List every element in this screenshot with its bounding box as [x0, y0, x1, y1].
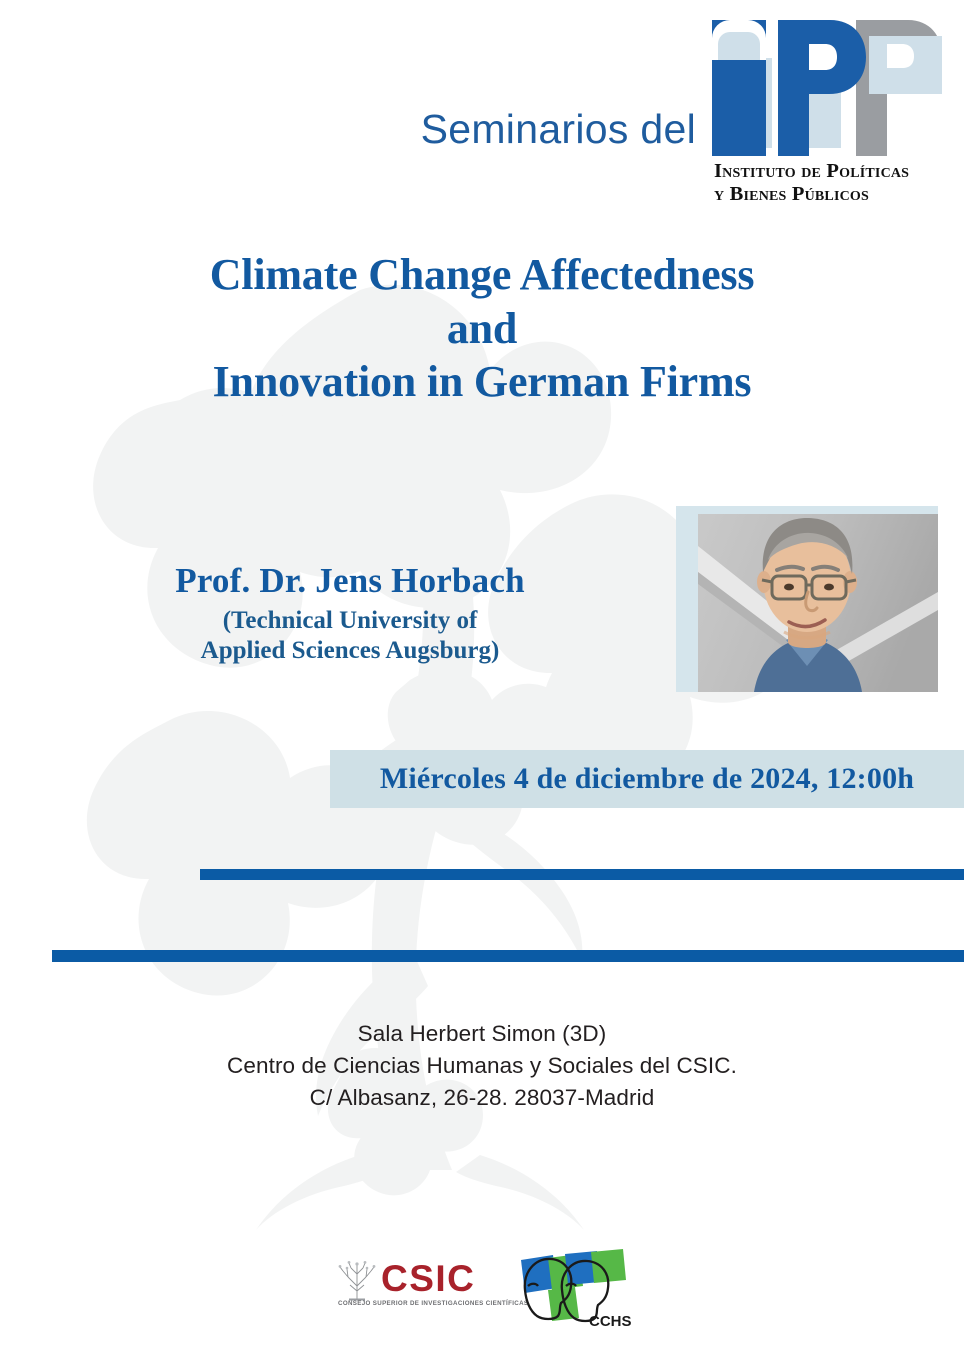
ipp-logo-mark [706, 18, 944, 158]
divider-rule-bottom [52, 950, 964, 962]
csic-tagline: CONSEJO SUPERIOR DE INVESTIGACIONES CIEN… [338, 1300, 528, 1307]
event-datetime: Miércoles 4 de diciembre de 2024, 12:00h [380, 762, 914, 796]
csic-wordmark: CSIC [381, 1260, 475, 1297]
poster-header: Seminarios del [0, 0, 964, 215]
title-line-2: and [0, 302, 964, 356]
cchs-label: CCHS [589, 1313, 632, 1330]
venue-line-3: C/ Albasanz, 26-28. 28037-Madrid [0, 1082, 964, 1114]
venue-line-1: Sala Herbert Simon (3D) [0, 1018, 964, 1050]
title-line-1: Climate Change Affectedness [0, 248, 964, 302]
divider-rule-top [200, 869, 964, 880]
speaker-info: Prof. Dr. Jens Horbach (Technical Univer… [30, 560, 670, 665]
title-line-3: Innovation in German Firms [0, 355, 964, 409]
ipp-logo: Instituto de Políticas y Bienes Públicos [706, 18, 944, 210]
venue-line-2: Centro de Ciencias Humanas y Sociales de… [0, 1050, 964, 1082]
speaker-name: Prof. Dr. Jens Horbach [30, 560, 670, 602]
speaker-photo [676, 506, 938, 692]
affiliation-line-2: Applied Sciences Augsburg) [30, 636, 670, 666]
affiliation-line-1: (Technical University of [30, 606, 670, 636]
cchs-logo: CCHS [515, 1246, 640, 1334]
institute-line-2: y Bienes Públicos [714, 183, 946, 206]
csic-tree-icon [337, 1260, 377, 1302]
poster-footer: CSIC CONSEJO SUPERIOR DE INVESTIGACIONES… [0, 1246, 964, 1341]
institute-line-1: Instituto de Políticas [714, 160, 946, 183]
csic-logo: CSIC CONSEJO SUPERIOR DE INVESTIGACIONES… [337, 1260, 489, 1312]
seminar-title: Climate Change Affectedness and Innovati… [0, 248, 964, 409]
ipp-institute-name: Instituto de Políticas y Bienes Públicos [714, 160, 946, 206]
event-datetime-banner: Miércoles 4 de diciembre de 2024, 12:00h [330, 750, 964, 808]
venue-info: Sala Herbert Simon (3D) Centro de Cienci… [0, 1018, 964, 1114]
seminar-poster: Seminarios del [0, 0, 964, 1361]
series-label: Seminarios del [421, 106, 696, 153]
speaker-affiliation: (Technical University of Applied Science… [30, 606, 670, 665]
